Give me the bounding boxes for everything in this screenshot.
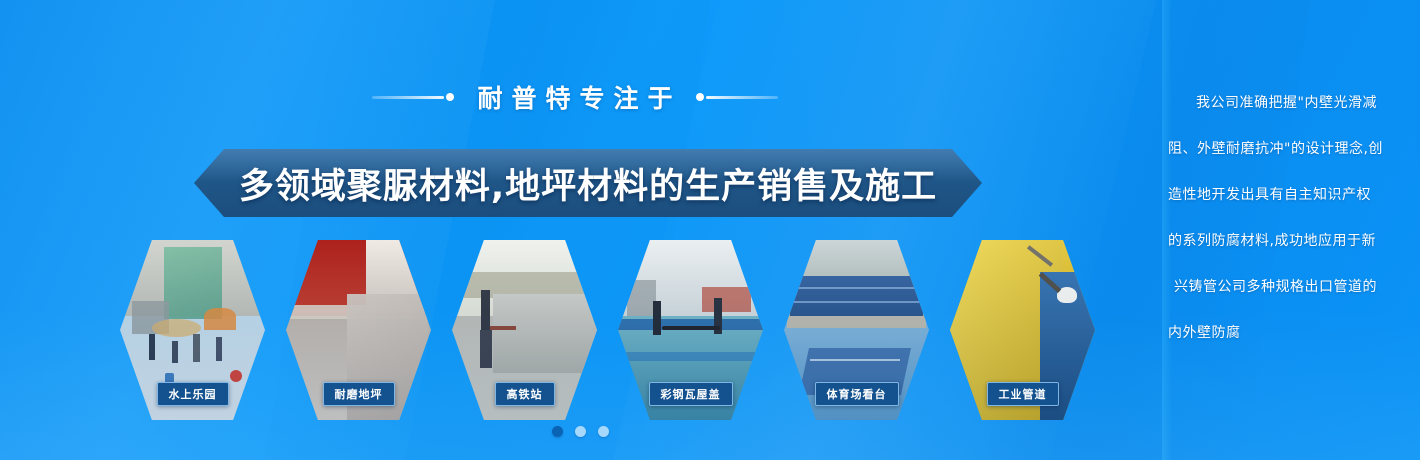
- decorative-line-right-icon: [696, 93, 778, 101]
- showcase-card[interactable]: 高铁站: [452, 240, 597, 420]
- paragraph-line: 兴铸管公司多种规格出口管道的: [1168, 264, 1400, 310]
- description-paragraph: 我公司准确把握"内壁光滑减 阻、外壁耐磨抗冲"的设计理念,创 造性地开发出具有自…: [1168, 80, 1400, 356]
- showcase-card[interactable]: 彩钢瓦屋盖: [618, 240, 763, 420]
- showcase-card-row: 水上乐园 耐磨地坪: [120, 240, 1140, 420]
- paragraph-line: 我公司准确把握"内壁光滑减: [1168, 80, 1400, 126]
- carousel-dot-2[interactable]: [575, 426, 586, 437]
- showcase-card-label: 水上乐园: [157, 382, 229, 406]
- promo-banner: 耐普特专注于 多领域聚脲材料,地坪材料的生产销售及施工: [0, 0, 1420, 460]
- showcase-card[interactable]: 体育场看台: [784, 240, 929, 420]
- headline-banner: 多领域聚脲材料,地坪材料的生产销售及施工: [194, 149, 982, 217]
- carousel-dot-3[interactable]: [598, 426, 609, 437]
- showcase-card-label: 耐磨地坪: [323, 382, 395, 406]
- showcase-card-label: 彩钢瓦屋盖: [649, 382, 733, 406]
- headline-text: 多领域聚脲材料,地坪材料的生产销售及施工: [194, 149, 982, 217]
- tagline-row: 耐普特专注于: [0, 78, 1150, 116]
- decorative-line-left-icon: [372, 93, 454, 101]
- carousel-dots: [0, 426, 1160, 437]
- showcase-card-label: 高铁站: [495, 382, 555, 406]
- showcase-card[interactable]: 耐磨地坪: [286, 240, 431, 420]
- showcase-card[interactable]: 工业管道: [950, 240, 1095, 420]
- paragraph-line: 内外壁防腐: [1168, 310, 1400, 356]
- showcase-card-label: 工业管道: [987, 382, 1059, 406]
- tagline-text: 耐普特专注于: [468, 79, 681, 115]
- paragraph-line: 的系列防腐材料,成功地应用于新: [1168, 218, 1400, 264]
- carousel-dot-1[interactable]: [552, 426, 563, 437]
- paragraph-line: 阻、外壁耐磨抗冲"的设计理念,创: [1168, 126, 1400, 172]
- showcase-card-label: 体育场看台: [815, 382, 899, 406]
- paragraph-line: 造性地开发出具有自主知识产权: [1168, 172, 1400, 218]
- showcase-card[interactable]: 水上乐园: [120, 240, 265, 420]
